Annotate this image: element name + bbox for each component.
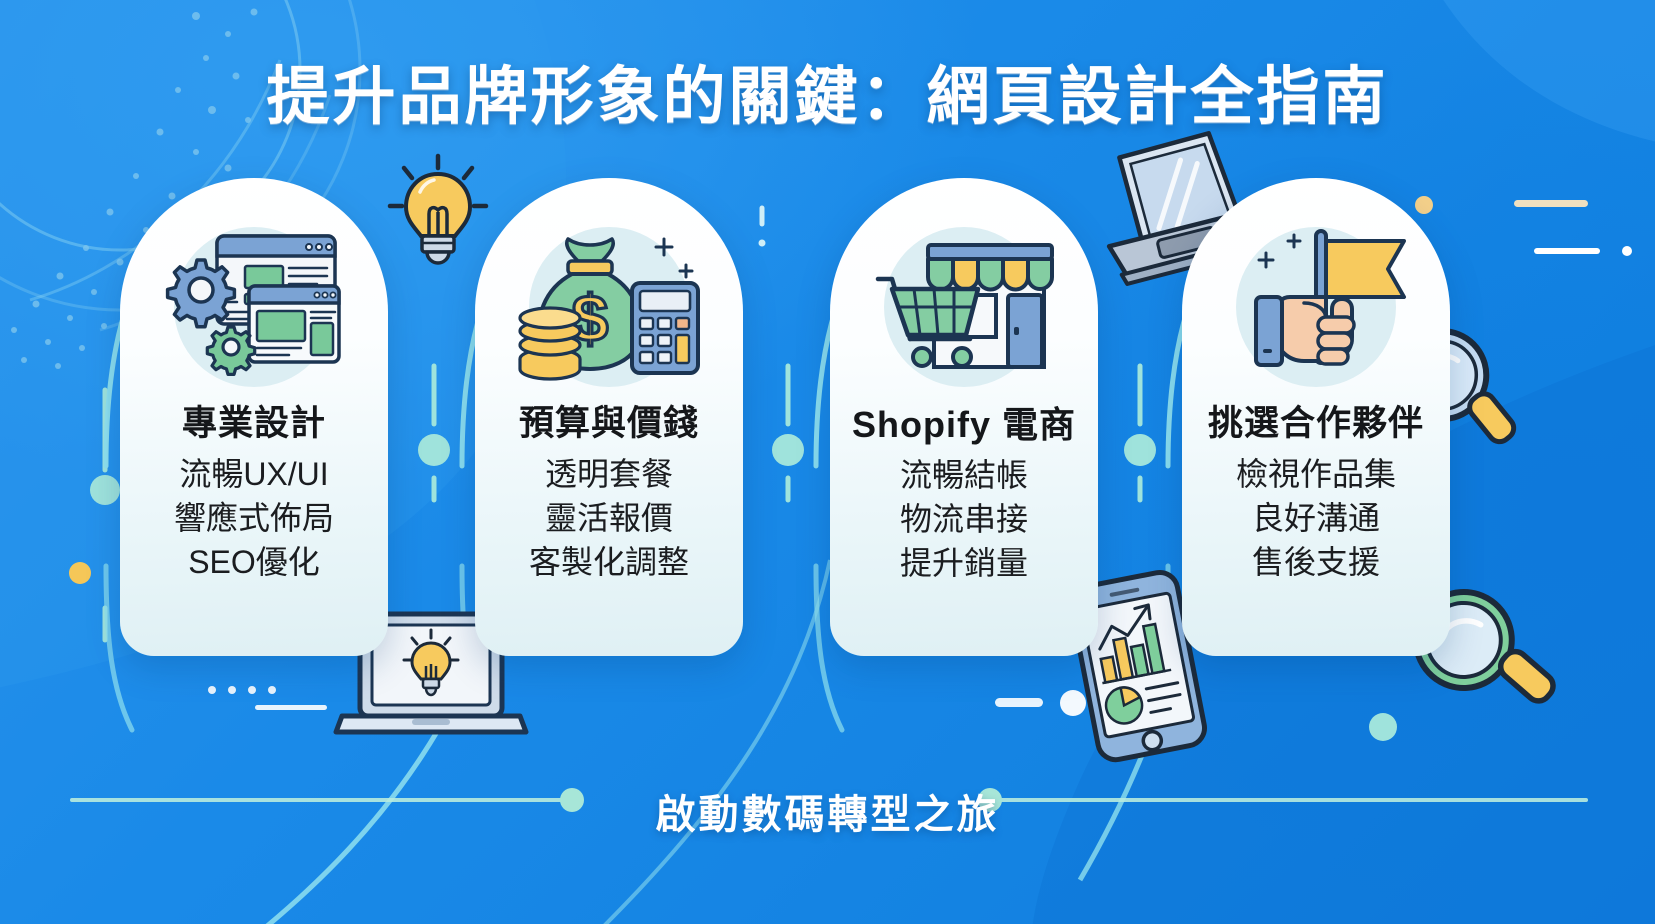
feature-card-choose-partner[interactable]: 挑選合作夥伴 檢視作品集 良好溝通 售後支援	[1182, 178, 1450, 656]
money-bag-calculator-icon: $	[509, 214, 709, 399]
card-item: 良好溝通	[1236, 496, 1396, 540]
card-items: 流暢UX/UI 響應式佈局 SEO優化	[174, 452, 334, 584]
card-title: Shopify 電商	[852, 405, 1076, 445]
footer-cta: 啟動數碼轉型之旅	[0, 778, 1655, 848]
card-item: 響應式佈局	[174, 496, 334, 540]
feature-cards-row: 專業設計 流暢UX/UI 響應式佈局 SEO優化	[0, 178, 1655, 678]
card-item: 流暢UX/UI	[174, 452, 334, 496]
card-title: 預算與價錢	[519, 405, 699, 444]
infographic-canvas: 提升品牌形象的關鍵：網頁設計全指南	[0, 0, 1655, 924]
card-item: 客製化調整	[529, 540, 689, 584]
card-items: 透明套餐 靈活報價 客製化調整	[529, 452, 689, 584]
card-item: SEO優化	[174, 540, 334, 584]
feature-card-professional-design[interactable]: 專業設計 流暢UX/UI 響應式佈局 SEO優化	[120, 178, 388, 656]
bottom-mint-dots	[995, 690, 1397, 741]
card-item: 提升銷量	[900, 541, 1028, 585]
card-item: 靈活報價	[529, 496, 689, 540]
feature-card-budget-pricing[interactable]: $	[475, 178, 743, 656]
card-item: 檢視作品集	[1236, 452, 1396, 496]
card-items: 流暢結帳 物流串接 提升銷量	[900, 453, 1028, 585]
card-item: 售後支援	[1236, 540, 1396, 584]
browser-windows-gears-icon	[154, 214, 354, 399]
card-item: 流暢結帳	[900, 453, 1028, 497]
hand-flag-icon	[1216, 214, 1416, 399]
feature-card-shopify-ecommerce[interactable]: Shopify 電商 流暢結帳 物流串接 提升銷量	[830, 178, 1098, 656]
card-item: 透明套餐	[529, 452, 689, 496]
footer-cta-text: 啟動數碼轉型之旅	[0, 782, 1655, 840]
card-title: 專業設計	[182, 405, 326, 444]
card-item: 物流串接	[900, 497, 1028, 541]
card-title: 挑選合作夥伴	[1208, 405, 1424, 444]
page-title: 提升品牌形象的關鍵：網頁設計全指南	[0, 46, 1655, 137]
card-items: 檢視作品集 良好溝通 售後支援	[1236, 452, 1396, 584]
storefront-cart-icon	[864, 214, 1064, 399]
